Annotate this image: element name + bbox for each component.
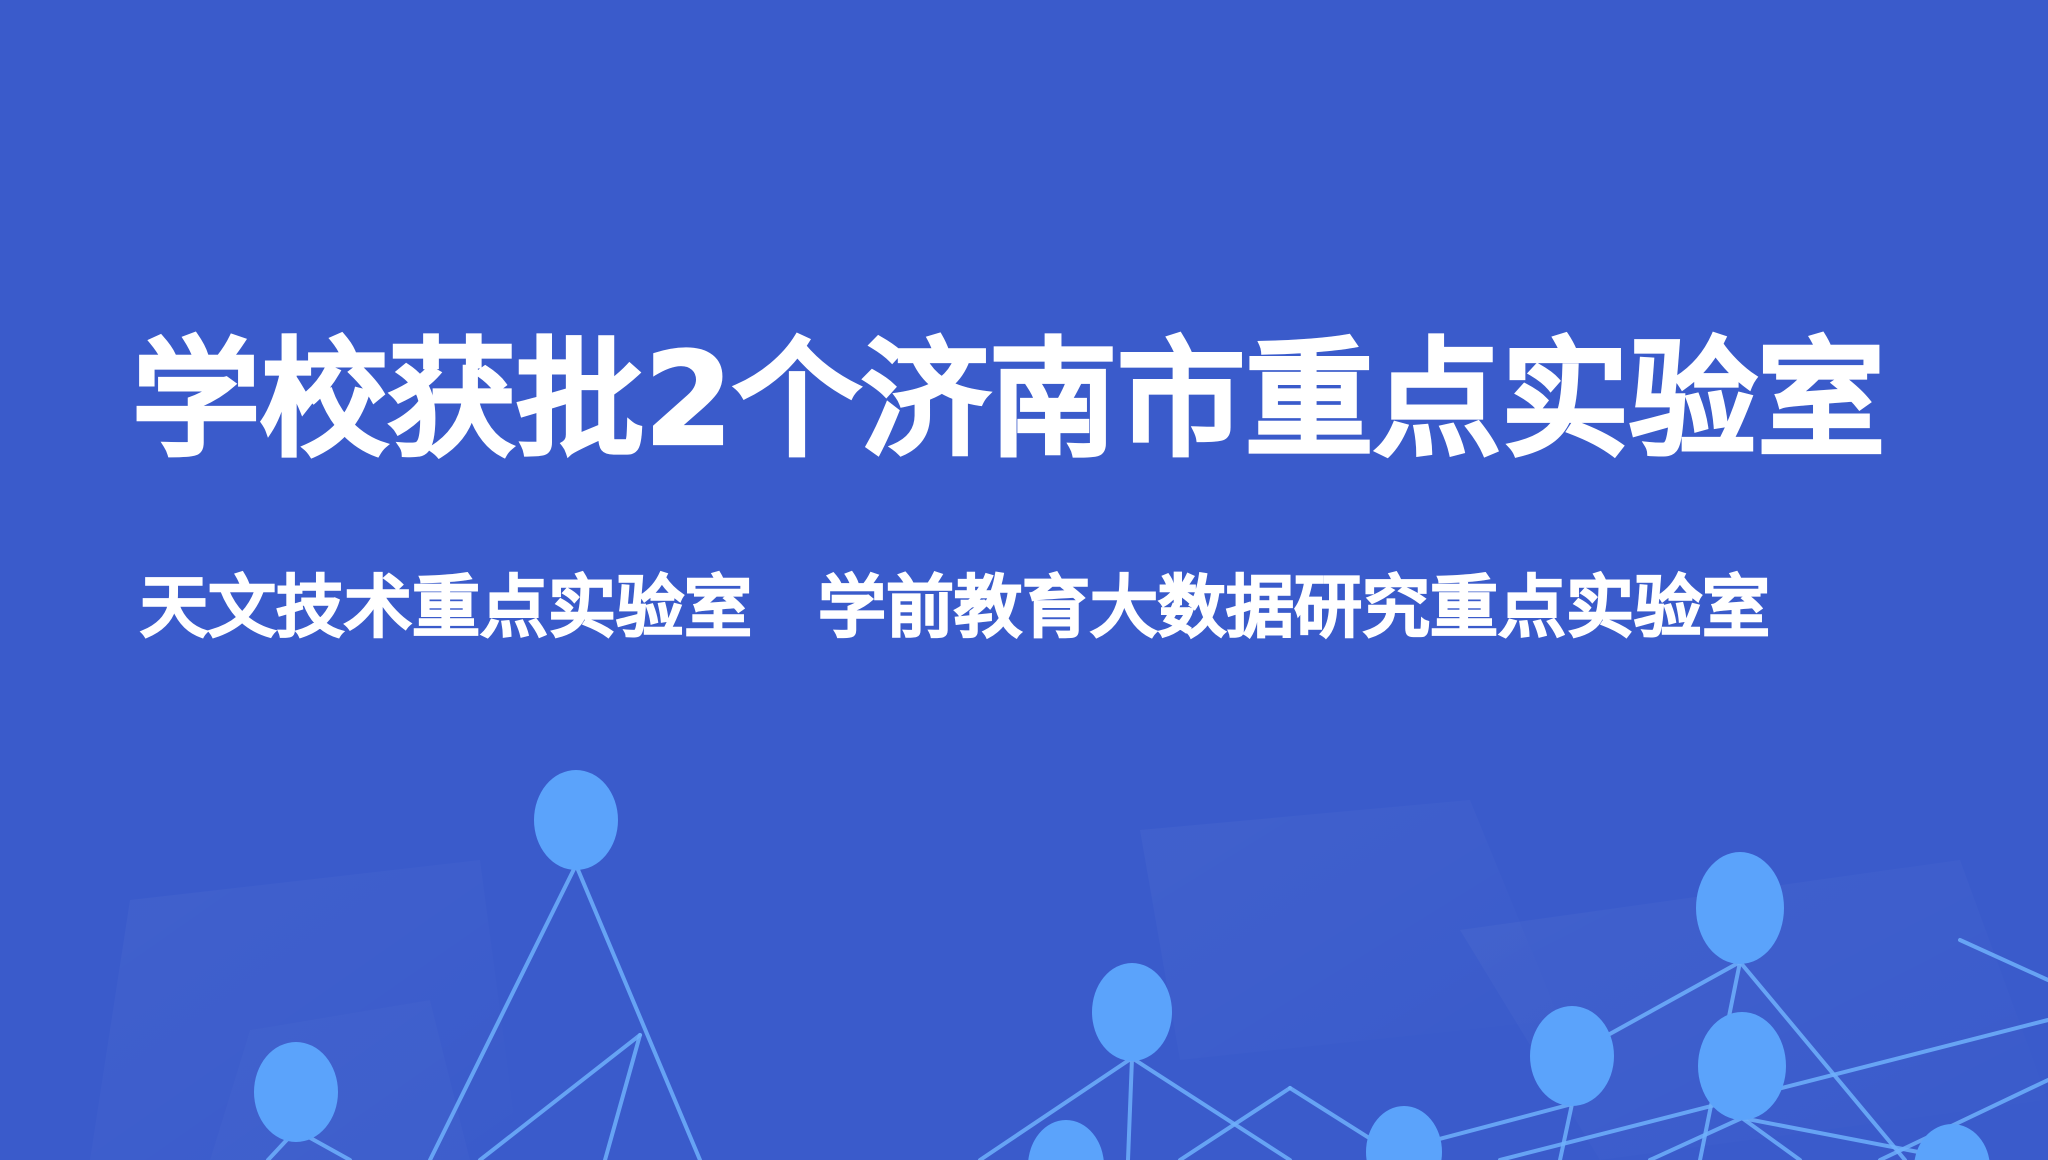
network-node	[1698, 1012, 1786, 1120]
subtitle-row: 天文技术重点实验室 学前教育大数据研究重点实验室	[140, 575, 1960, 643]
headline-block: 学校获批2个济南市重点实验室 天文技术重点实验室 学前教育大数据研究重点实验室	[0, 0, 2048, 1160]
network-node	[254, 1042, 338, 1142]
banner-canvas: 学校获批2个济南市重点实验室 天文技术重点实验室 学前教育大数据研究重点实验室	[0, 0, 2048, 1160]
network-node	[1366, 1106, 1442, 1160]
network-node	[1530, 1006, 1614, 1106]
background-wash	[0, 0, 2048, 1160]
network-node	[1696, 852, 1784, 964]
network-node	[1028, 1120, 1104, 1160]
network-node	[1914, 1124, 1990, 1160]
lab-name-early-education-bigdata: 学前教育大数据研究重点实验室	[818, 575, 1770, 643]
network-node	[1092, 963, 1172, 1061]
network-node-graphic	[0, 690, 2048, 1160]
network-node	[534, 770, 618, 870]
lab-name-astronomy: 天文技术重点实验室	[140, 575, 752, 643]
page-title: 学校获批2个济南市重点实验室	[132, 337, 1932, 465]
